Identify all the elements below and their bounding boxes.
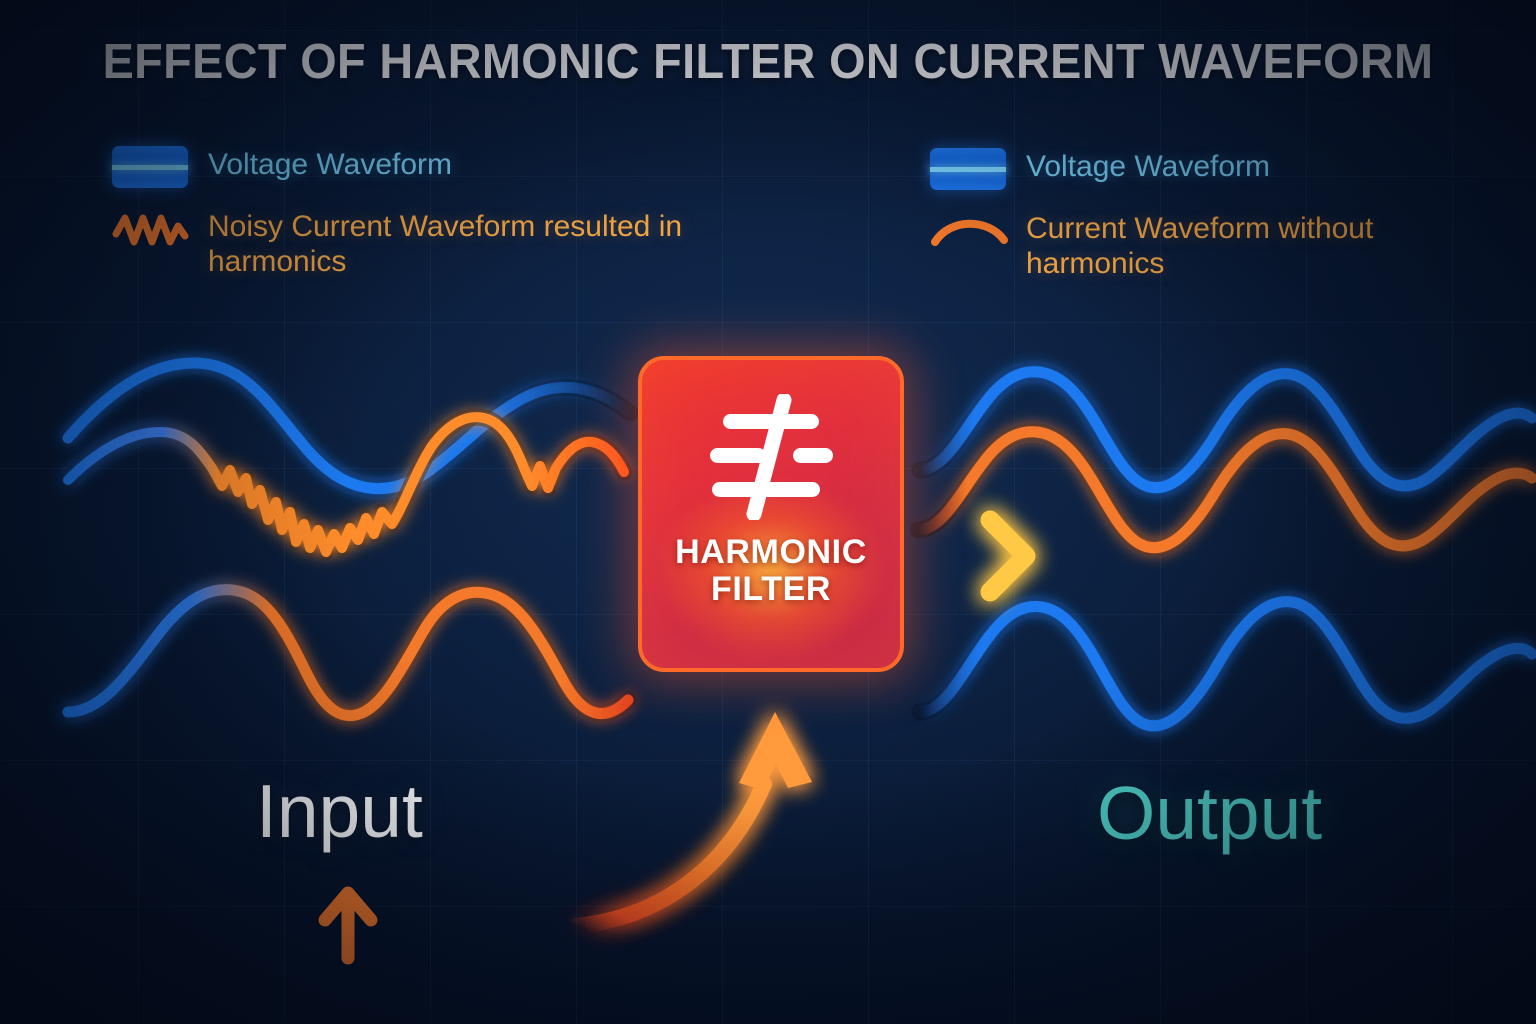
input-up-arrow-icon — [325, 893, 371, 958]
infographic-canvas: EFFECT OF HARMONIC FILTER ON CURRENT WAV… — [0, 0, 1536, 1024]
harmonic-filter-box[interactable]: HARMONIC FILTER — [638, 356, 904, 672]
output-label: Output — [1097, 770, 1322, 856]
voltage-swatch-icon — [930, 148, 1010, 192]
input-label: Input — [256, 768, 423, 854]
noisy-wave-icon — [112, 208, 192, 252]
input-lower-wave — [68, 590, 628, 716]
legend-right: Voltage Waveform Current Waveform withou… — [930, 148, 1490, 300]
legend-left: Voltage Waveform Noisy Current Waveform … — [112, 146, 772, 298]
smooth-wave-icon — [930, 210, 1010, 254]
legend-label-noisy-current: Noisy Current Waveform resulted in harmo… — [208, 208, 772, 280]
harmonic-filter-icon — [696, 394, 846, 520]
legend-label-voltage-right: Voltage Waveform — [1026, 148, 1270, 185]
legend-item-voltage-right: Voltage Waveform — [930, 148, 1490, 192]
filter-label-line2: FILTER — [675, 571, 867, 608]
legend-label-clean-current: Current Waveform without harmonics — [1026, 210, 1490, 282]
legend-item-noisy-current: Noisy Current Waveform resulted in harmo… — [112, 208, 772, 280]
page-title: EFFECT OF HARMONIC FILTER ON CURRENT WAV… — [35, 34, 1502, 90]
legend-item-clean-current: Current Waveform without harmonics — [930, 210, 1490, 282]
voltage-swatch-icon — [112, 146, 192, 190]
output-lower-voltage-wave — [920, 602, 1532, 726]
legend-label-voltage-left: Voltage Waveform — [208, 146, 452, 183]
filter-label: HARMONIC FILTER — [675, 534, 867, 607]
curved-flow-arrow-icon — [576, 712, 812, 926]
filter-label-line1: HARMONIC — [675, 534, 867, 571]
legend-item-voltage-left: Voltage Waveform — [112, 146, 772, 190]
